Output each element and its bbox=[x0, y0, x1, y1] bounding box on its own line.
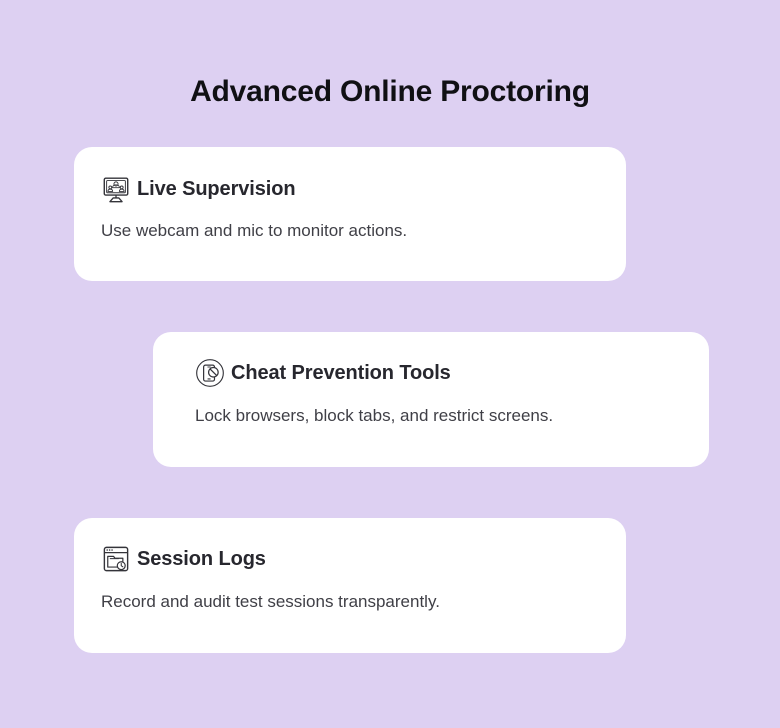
card-title: Live Supervision bbox=[137, 176, 295, 202]
feature-card-session-logs[interactable]: Session Logs Record and audit test sessi… bbox=[74, 518, 626, 653]
video-monitor-supervision-icon bbox=[101, 174, 131, 204]
phone-prohibited-icon bbox=[195, 358, 225, 388]
card-title: Cheat Prevention Tools bbox=[231, 360, 451, 386]
browser-folder-clock-icon bbox=[101, 544, 131, 574]
feature-card-cheat-prevention-tools[interactable]: Cheat Prevention Tools Lock browsers, bl… bbox=[153, 332, 709, 467]
card-header: Live Supervision bbox=[101, 174, 295, 204]
card-header: Cheat Prevention Tools bbox=[195, 358, 451, 388]
feature-card-live-supervision[interactable]: Live Supervision Use webcam and mic to m… bbox=[74, 147, 626, 281]
card-description: Use webcam and mic to monitor actions. bbox=[101, 219, 407, 243]
card-description: Record and audit test sessions transpare… bbox=[101, 590, 440, 614]
card-header: Session Logs bbox=[101, 544, 266, 574]
proctoring-feature-page: Advanced Online Proctoring Live Supervis bbox=[0, 0, 780, 728]
page-title: Advanced Online Proctoring bbox=[0, 72, 780, 112]
card-title: Session Logs bbox=[137, 546, 266, 572]
card-description: Lock browsers, block tabs, and restrict … bbox=[195, 404, 553, 428]
